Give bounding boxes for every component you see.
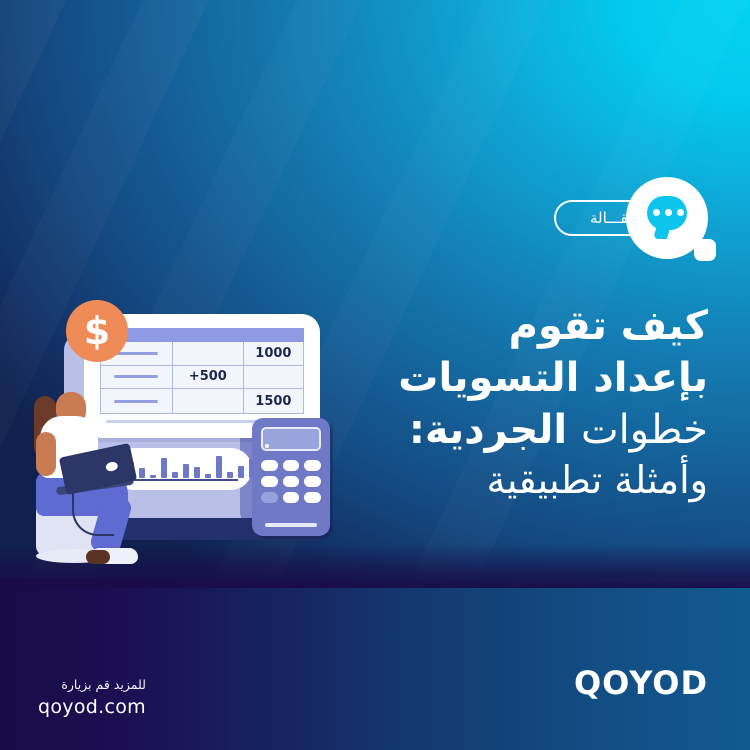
calculator-key: [283, 476, 300, 487]
calculator-indicator-dot: [265, 444, 269, 448]
bar: [227, 472, 233, 478]
row-middle-cell: [172, 342, 243, 365]
arm: [36, 432, 56, 476]
footer-url[interactable]: qoyod.com: [38, 696, 146, 718]
calculator-key: [283, 460, 300, 471]
calculator-key: [304, 476, 321, 487]
footer-cta: للمزيد قم بزيارة qoyod.com: [38, 677, 146, 718]
article-badge[interactable]: مقـــالة: [554, 168, 708, 268]
calculator-display: [261, 427, 321, 451]
poster-canvas: مقـــالة كيف تقوم بإعداد التسويات خطوات …: [0, 0, 750, 750]
calculator-key: [304, 492, 321, 503]
table-row: +500: [101, 366, 303, 390]
row-amount-cell: 1500: [243, 389, 303, 413]
footer-cta-arabic: للمزيد قم بزيارة: [38, 677, 146, 692]
calculator-key: [283, 492, 300, 503]
placeholder-dash: [114, 400, 158, 403]
bar: [194, 467, 200, 478]
logo-text: QOYOD: [574, 664, 708, 702]
shoe-back: [86, 550, 110, 564]
ledger-table: 1000 +500 1500: [100, 342, 304, 414]
row-amount-cell: 1000: [243, 342, 303, 365]
bar: [172, 472, 178, 478]
placeholder-dash: [114, 375, 158, 378]
calculator-key: [261, 460, 278, 471]
calculator-keypad: [261, 460, 321, 503]
title-line-3-light: خطوات: [581, 407, 708, 453]
bar: [216, 456, 222, 478]
calculator-key: [261, 476, 278, 487]
row-amount-cell: [243, 366, 303, 389]
calculator-bottom-bar: [265, 523, 317, 527]
badge-accent-square: [694, 239, 716, 261]
bar: [161, 458, 167, 478]
row-label-cell: [101, 366, 172, 389]
calculator-key: [304, 460, 321, 471]
dollar-coin-icon: $: [66, 300, 128, 362]
row-middle-cell: +500: [172, 366, 243, 389]
qoyod-logo: QOYOD: [574, 664, 708, 702]
table-row: 1500: [101, 389, 303, 413]
table-row: 1000: [101, 342, 303, 366]
calculator: [252, 418, 330, 536]
row-label-cell: [101, 389, 172, 413]
bar: [183, 464, 189, 478]
bar-chart-baseline: [126, 479, 238, 481]
bar: [139, 468, 145, 478]
placeholder-dash: [114, 352, 158, 355]
row-middle-cell: [172, 389, 243, 413]
accounting-illustration: 1000 +500 1500: [0, 300, 360, 600]
bar: [205, 474, 211, 478]
title-line-3-bold: الجردية:: [409, 407, 567, 453]
ledger-header-bar: [100, 328, 304, 342]
bar: [150, 475, 156, 478]
article-speech-bubble-icon: [626, 177, 708, 259]
ellipsis-dots: [653, 209, 684, 216]
dollar-symbol: $: [84, 312, 110, 350]
calculator-key: [261, 492, 278, 503]
bar: [238, 466, 244, 478]
